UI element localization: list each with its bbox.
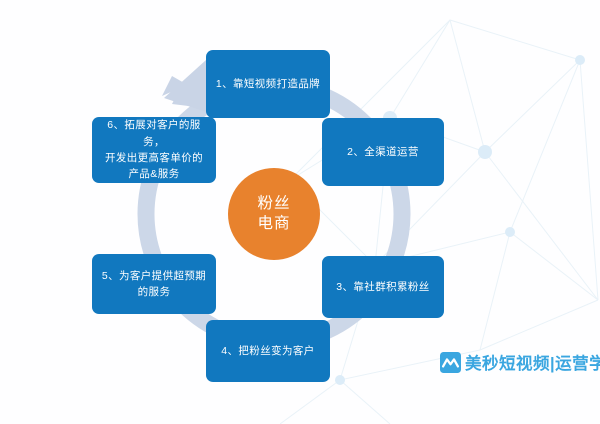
step-box-2-label: 2、全渠道运营 [347,144,419,160]
step-box-4-label: 4、把粉丝变为客户 [221,343,314,359]
step-box-3[interactable]: 3、靠社群积累粉丝 [322,256,444,318]
step-box-1-label: 1、靠短视频打造品牌 [216,76,320,92]
step-box-5-label: 5、为客户提供超预期 的服务 [102,268,206,301]
mountain-wave-mark-icon [440,352,461,373]
step-box-6[interactable]: 6、拓展对客户的服务， 开发出更高客单价的 产品&服务 [92,117,216,183]
step-box-6-label: 6、拓展对客户的服务， 开发出更高客单价的 产品&服务 [98,117,210,182]
step-box-5[interactable]: 5、为客户提供超预期 的服务 [92,254,216,314]
center-circle: 粉丝 电商 [228,168,320,260]
step-box-2[interactable]: 2、全渠道运营 [322,118,444,186]
center-line-2: 电商 [257,214,290,234]
step-box-3-label: 3、靠社群积累粉丝 [336,279,429,295]
step-box-4[interactable]: 4、把粉丝变为客户 [206,320,330,382]
center-line-1: 粉丝 [257,194,290,214]
brand-logo-text: 美秒短视频|运营学院 [465,350,600,374]
brand-logo: 美秒短视频|运营学院 [440,350,600,374]
step-box-1[interactable]: 1、靠短视频打造品牌 [206,50,330,118]
slide-canvas: 粉丝 电商 1、靠短视频打造品牌 2、全渠道运营 3、靠社群积累粉丝 4、把粉丝… [0,0,600,424]
